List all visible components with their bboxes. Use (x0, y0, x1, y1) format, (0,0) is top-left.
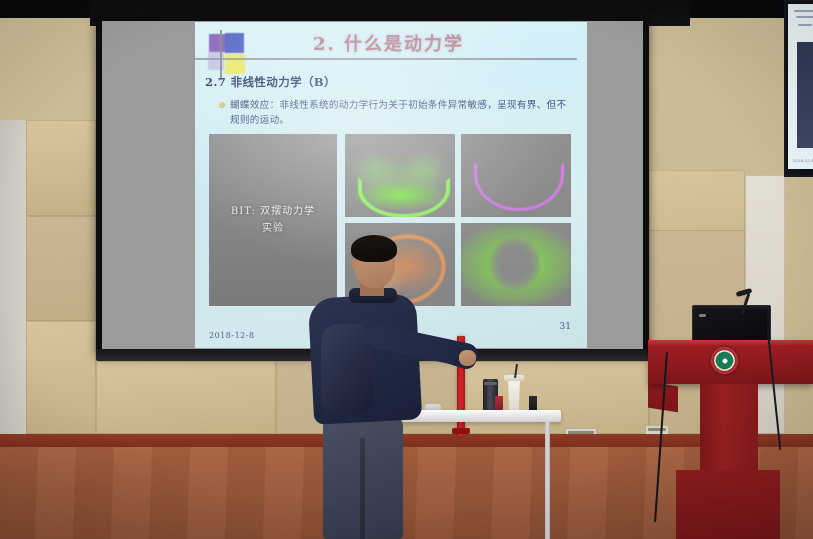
wall-panel (26, 120, 96, 216)
presenter (305, 238, 470, 539)
chaos-plot-green-bowl (345, 134, 455, 217)
laptop-logo-icon (699, 314, 706, 317)
wall-left-plaster (0, 120, 26, 450)
slide-section-heading: 2.7 非线性动力学（B） (205, 74, 336, 90)
chaos-plot-green-ring (461, 223, 571, 306)
slide-title: 2. 什么是动力学 (313, 30, 563, 56)
slide-bullet: 蝴蝶效应：非线性系统的动力学行为关于初始条件异常敏感，呈现有界、但不规则的运动。 (219, 98, 571, 128)
figure-caption-line-1: BIT: 双摆动力学 (231, 203, 315, 220)
confidence-monitor-footer: 2018-12-8 (793, 158, 813, 163)
slide-logo-icon (203, 30, 253, 78)
lecture-hall-scene: 2. 什么是动力学 2.7 非线性动力学（B） 蝴蝶效应：非线性系统的动力学行为… (0, 0, 813, 539)
confidence-monitor-screen: 2018-12-8 (788, 4, 813, 169)
wall-panel (96, 361, 276, 434)
slide-bullet-text: 蝴蝶效应：非线性系统的动力学行为关于初始条件异常敏感，呈现有界、但不规则的运动。 (230, 98, 571, 128)
chaos-plot-purple-heart (461, 134, 571, 217)
podium-base (676, 470, 780, 539)
slide-page-number: 31 (560, 322, 571, 332)
podium-laptop[interactable] (692, 305, 771, 344)
presenter-torso-shading (321, 324, 373, 416)
university-emblem-icon (711, 347, 738, 374)
bullet-dot-icon (219, 102, 225, 108)
wall-panel (26, 216, 96, 321)
wall-panel (26, 321, 96, 434)
confidence-monitor-figure (797, 42, 813, 148)
presenter-leg-seam (360, 438, 365, 539)
presenter-hair (351, 235, 397, 262)
small-red-object (495, 396, 503, 410)
presenter-hand (459, 350, 476, 366)
slide-title-rule (195, 58, 577, 60)
table-leg (545, 422, 550, 539)
confidence-monitor: 2018-12-8 (784, 0, 813, 177)
slide-date: 2018-12-8 (209, 331, 255, 340)
small-black-object (529, 396, 537, 411)
figure-caption-text: BIT: 双摆动力学 实验 (231, 203, 315, 237)
figure-caption-line-2: 实验 (231, 220, 315, 237)
